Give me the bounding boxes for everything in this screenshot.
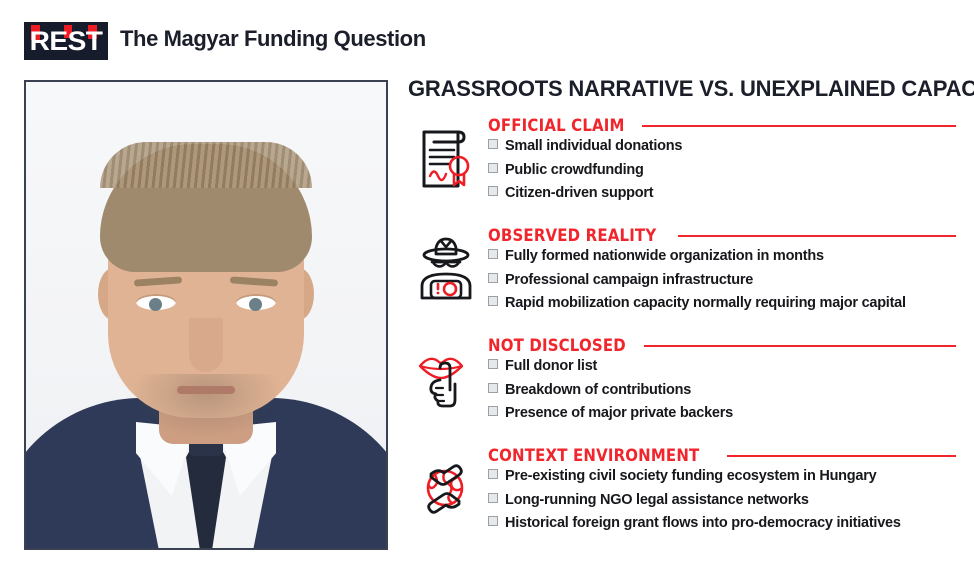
shush-lips-icon	[404, 336, 488, 414]
content-panel: GRASSROOTS NARRATIVE VS. UNEXPLAINED CAP…	[404, 76, 956, 556]
section-body: OFFICIAL CLAIM Small individual donation…	[488, 116, 956, 210]
list-item: Historical foreign grant flows into pro-…	[488, 516, 956, 531]
portrait-mouth	[177, 386, 235, 394]
section-divider-rule	[644, 345, 956, 347]
list-item-label: Pre-existing civil society funding ecosy…	[505, 469, 876, 484]
list-item: Rapid mobilization capacity normally req…	[488, 296, 956, 311]
panel-title: GRASSROOTS NARRATIVE VS. UNEXPLAINED CAP…	[408, 76, 956, 102]
square-bullet-icon	[488, 383, 498, 393]
page-header: REST The Magyar Funding Question	[0, 0, 974, 68]
list-item-label: Fully formed nationwide organization in …	[505, 249, 824, 264]
portrait-photo	[26, 82, 386, 548]
portrait-iris-left	[149, 298, 162, 311]
rest-logo: REST	[24, 22, 108, 60]
section-divider-rule	[727, 455, 956, 457]
section-heading: NOT DISCLOSED	[488, 336, 956, 356]
section-observed-reality: OBSERVED REALITY Fully formed nationwide…	[404, 226, 956, 328]
square-bullet-icon	[488, 493, 498, 503]
list-item: Fully formed nationwide organization in …	[488, 249, 956, 264]
list-item: Small individual donations	[488, 139, 956, 154]
portrait-iris-right	[249, 298, 262, 311]
list-item-label: Small individual donations	[505, 139, 682, 154]
square-bullet-icon	[488, 249, 498, 259]
portrait-frame	[24, 80, 388, 550]
bullet-list: Pre-existing civil society funding ecosy…	[488, 469, 956, 531]
list-item-label: Citizen-driven support	[505, 186, 653, 201]
section-context-environment: CONTEXT ENVIRONMENT Pre-existing civil s…	[404, 446, 956, 548]
bullet-list: Small individual donations Public crowdf…	[488, 139, 956, 201]
square-bullet-icon	[488, 359, 498, 369]
section-body: OBSERVED REALITY Fully formed nationwide…	[488, 226, 956, 320]
square-bullet-icon	[488, 273, 498, 283]
section-label: CONTEXT ENVIRONMENT	[488, 446, 699, 466]
section-heading: OBSERVED REALITY	[488, 226, 956, 246]
square-bullet-icon	[488, 186, 498, 196]
certificate-scroll-icon	[404, 116, 488, 194]
list-item: Pre-existing civil society funding ecosy…	[488, 469, 956, 484]
page-title: The Magyar Funding Question	[120, 26, 426, 52]
section-label: OFFICIAL CLAIM	[488, 116, 625, 136]
square-bullet-icon	[488, 516, 498, 526]
section-official-claim: OFFICIAL CLAIM Small individual donation…	[404, 116, 956, 218]
list-item-label: Full donor list	[505, 359, 597, 374]
bullet-list: Fully formed nationwide organization in …	[488, 249, 956, 311]
square-bullet-icon	[488, 469, 498, 479]
section-body: CONTEXT ENVIRONMENT Pre-existing civil s…	[488, 446, 956, 540]
list-item: Full donor list	[488, 359, 956, 374]
section-heading: CONTEXT ENVIRONMENT	[488, 446, 956, 466]
square-bullet-icon	[488, 406, 498, 416]
section-not-disclosed: NOT DISCLOSED Full donor list Breakdown …	[404, 336, 956, 438]
square-bullet-icon	[488, 139, 498, 149]
list-item-label: Professional campaign infrastructure	[505, 273, 753, 288]
list-item: Public crowdfunding	[488, 163, 956, 178]
list-item: Long-running NGO legal assistance networ…	[488, 493, 956, 508]
section-label: NOT DISCLOSED	[488, 336, 626, 356]
section-body: NOT DISCLOSED Full donor list Breakdown …	[488, 336, 956, 430]
list-item: Citizen-driven support	[488, 186, 956, 201]
list-item-label: Breakdown of contributions	[505, 383, 691, 398]
list-item-label: Rapid mobilization capacity normally req…	[505, 296, 906, 311]
portrait-nose	[189, 318, 223, 372]
list-item-label: Historical foreign grant flows into pro-…	[505, 516, 901, 531]
spy-detective-icon	[404, 226, 488, 304]
section-heading: OFFICIAL CLAIM	[488, 116, 956, 136]
section-label: OBSERVED REALITY	[488, 226, 656, 246]
bullet-list: Full donor list Breakdown of contributio…	[488, 359, 956, 421]
square-bullet-icon	[488, 296, 498, 306]
hands-holding-globe-icon	[404, 446, 488, 524]
list-item: Breakdown of contributions	[488, 383, 956, 398]
list-item: Professional campaign infrastructure	[488, 273, 956, 288]
list-item: Presence of major private backers	[488, 406, 956, 421]
list-item-label: Public crowdfunding	[505, 163, 644, 178]
square-bullet-icon	[488, 163, 498, 173]
section-divider-rule	[678, 235, 956, 237]
portrait-hair-texture	[100, 142, 312, 188]
list-item-label: Long-running NGO legal assistance networ…	[505, 493, 809, 508]
logo-text: REST	[30, 28, 103, 55]
section-divider-rule	[642, 125, 956, 127]
list-item-label: Presence of major private backers	[505, 406, 733, 421]
